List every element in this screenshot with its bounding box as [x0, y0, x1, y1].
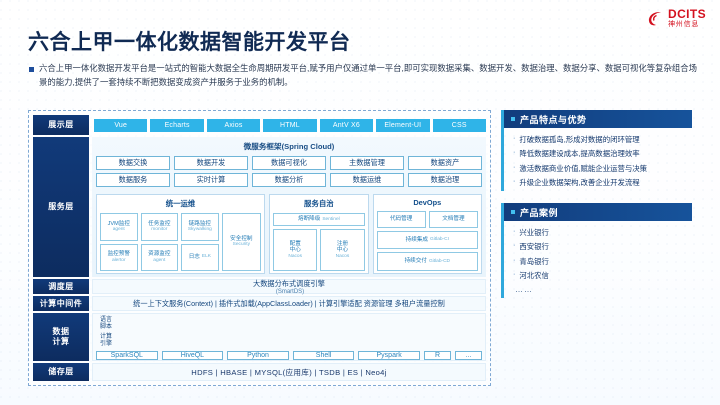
service-module[interactable]: 数据资产: [408, 156, 482, 170]
cd-cell-cn: 持续交付: [405, 258, 427, 264]
advantage-text: 打破数据孤岛,形成对数据的闭环管理: [519, 135, 639, 144]
ops-cell-en: agent: [153, 258, 165, 264]
security-control-cell[interactable]: 安全控制 Security: [222, 213, 262, 271]
devops-cells: 代码管理 文档管理 持续集成 Gitlab-CI: [377, 211, 478, 271]
case-item: · 西安银行: [513, 242, 688, 251]
side-column: 产品特点与优势 · 打破数据孤岛,形成对数据的闭环管理 · 降低数据建设成本,提…: [501, 110, 692, 386]
ci-cell-en: Gitlab-CI: [430, 237, 449, 243]
unified-ops-panel: 统一运维 JVM监控 agent 任务监: [96, 194, 265, 274]
bullet-dot-icon: ·: [513, 178, 515, 186]
advantage-text: 激活数据商业价值,赋能企业运营与决策: [519, 164, 647, 173]
ops-cell-en: monitor: [151, 227, 167, 233]
ops-cell-en: ELK: [202, 254, 211, 260]
schedule-engine-en: (SmartDS): [276, 289, 304, 295]
service-autonomy-cells: 熔断降级 Sentinel 配置 中心 Nacos: [273, 213, 364, 271]
service-autonomy-title: 服务自治: [273, 197, 364, 211]
advantage-text: 升级企业数据架构,改善企业开发流程: [519, 178, 639, 187]
layer-label-middleware: 计算中间件: [33, 296, 89, 311]
page-title: 六合上甲一体化数据智能开发平台: [28, 26, 351, 56]
ops-cell[interactable]: 监控预警 alertor: [100, 244, 138, 272]
ops-cell-cn: 日志: [189, 254, 200, 260]
service-module-row: 数据交换 数据开发 数据可视化 主数据管理 数据资产: [96, 156, 482, 170]
tech-tag[interactable]: AntV X6: [320, 119, 373, 132]
bullet-square-icon: [29, 67, 34, 72]
content-area: 展示层 Vue Echarts Axios HTML AntV X6 Eleme…: [28, 110, 692, 386]
service-module[interactable]: 实时计算: [174, 173, 248, 187]
case-item: · 河北农信: [513, 271, 688, 280]
bullet-dot-icon: ·: [513, 164, 515, 172]
service-module[interactable]: 数据可视化: [252, 156, 326, 170]
schedule-engine-bar: 大数据分布式调度引擎 (SmartDS): [92, 279, 486, 294]
autonomy-center-row: 配置 中心 Nacos 注册 中心 Nacos: [273, 229, 364, 271]
bullet-dot-icon: ·: [513, 242, 515, 250]
ops-cell[interactable]: JVM监控 agent: [100, 213, 138, 241]
bullet-dot-icon: ·: [513, 149, 515, 157]
code-manage-cell[interactable]: 代码管理: [377, 211, 426, 228]
service-layer-row: 服务层 微服务框架(Spring Cloud) 数据交换 数据开发 数据可视化 …: [33, 137, 486, 277]
security-cell-en: Security: [233, 242, 250, 248]
cases-title: 产品案例: [520, 206, 558, 219]
advantage-item: · 升级企业数据架构,改善企业开发流程: [513, 178, 688, 187]
storage-tech-list: HDFS | HBASE | MYSQL(应用库) | TSDB | ES | …: [92, 363, 486, 381]
language-chip[interactable]: Pyspark: [358, 351, 420, 360]
presentation-tag-list: Vue Echarts Axios HTML AntV X6 Element-U…: [92, 115, 486, 135]
ops-monitor-row: JVM监控 agent 任务监控 monitor 链路监: [100, 213, 219, 241]
doc-manage-label: 文档管理: [442, 216, 464, 222]
header-square-icon: [511, 117, 515, 121]
language-chip[interactable]: SparkSQL: [96, 351, 158, 360]
logo-brand-cn-text: 神州信息: [668, 21, 706, 28]
data-compute-layer-row: 数据 计算 语言 脚本 计算 引擎: [33, 313, 486, 361]
service-module[interactable]: 数据开发: [174, 156, 248, 170]
service-module[interactable]: 数据运维: [330, 173, 404, 187]
storage-layer-row: 储存层 HDFS | HBASE | MYSQL(应用库) | TSDB | E…: [33, 363, 486, 381]
unified-ops-cells: JVM监控 agent 任务监控 monitor 链路监: [100, 213, 261, 271]
data-compute-label-l2: 计算: [53, 337, 70, 346]
case-item: · 青岛银行: [513, 257, 688, 266]
lang-label-l1: 语言: [100, 317, 112, 324]
ops-panels-area: 统一运维 JVM监控 agent 任务监: [96, 194, 482, 274]
page-subtitle: 六合上甲一体化数据开发平台是一站式的智能大数据全生命周期研发平台,赋予用户仅通过…: [39, 62, 697, 90]
registry-cell-en: Nacos: [336, 254, 350, 260]
bullet-dot-icon: ·: [513, 228, 515, 236]
page-subtitle-block: 六合上甲一体化数据开发平台是一站式的智能大数据全生命周期研发平台,赋予用户仅通过…: [29, 62, 697, 90]
fuse-degrade-cell[interactable]: 熔断降级 Sentinel: [273, 213, 364, 226]
cases-card: 产品案例 · 兴业银行 · 西安银行 · 青岛银行: [501, 203, 692, 298]
tech-tag[interactable]: CSS: [433, 119, 486, 132]
engine-label-l2: 引擎: [100, 341, 112, 348]
unified-ops-title: 统一运维: [100, 197, 261, 211]
tech-tag[interactable]: Element-UI: [376, 119, 429, 132]
lang-label-l2: 脚本: [100, 324, 112, 331]
case-text: 兴业银行: [519, 228, 549, 237]
case-text: 青岛银行: [519, 257, 549, 266]
schedule-engine-cn: 大数据分布式调度引擎: [253, 279, 325, 289]
data-compute-content: 语言 脚本 计算 引擎 SparkSQL HiveQL Python: [92, 313, 486, 361]
cases-ellipsis: ……: [513, 285, 688, 294]
language-chip-more[interactable]: ...: [455, 351, 482, 360]
advantage-item: · 降低数据建设成本,提高数据治理效率: [513, 149, 688, 158]
bullet-dot-icon: ·: [513, 135, 515, 143]
devops-title: DevOps: [377, 197, 478, 209]
layer-label-storage: 储存层: [33, 363, 89, 381]
ci-cell-cn: 持续集成: [406, 237, 428, 243]
engine-label-l1: 计算: [100, 334, 112, 341]
advantage-text: 降低数据建设成本,提高数据治理效率: [519, 149, 639, 158]
config-center-cell[interactable]: 配置 中心 Nacos: [273, 229, 317, 271]
architecture-diagram: 展示层 Vue Echarts Axios HTML AntV X6 Eleme…: [28, 110, 491, 386]
case-text: 河北农信: [519, 271, 549, 280]
ops-cell[interactable]: 任务监控 monitor: [141, 213, 179, 241]
ops-cell[interactable]: 资源监控 agent: [141, 244, 179, 272]
language-chip-row: SparkSQL HiveQL Python Shell Pyspark R .…: [96, 351, 482, 360]
advantage-item: · 打破数据孤岛,形成对数据的闭环管理: [513, 135, 688, 144]
ops-cell[interactable]: 链路监控 Skywalking: [181, 213, 219, 241]
cd-cell[interactable]: 持续交付 Gitlab-CD: [377, 252, 478, 271]
compute-engine-label: 计算 引擎: [96, 334, 116, 348]
service-layer-content: 微服务框架(Spring Cloud) 数据交换 数据开发 数据可视化 主数据管…: [92, 137, 486, 277]
layer-label-data-compute: 数据 计算: [33, 313, 89, 361]
fuse-cell-cn: 熔断降级: [298, 216, 320, 222]
ops-monitor-row: 监控预警 alertor 资源监控 agent 日志: [100, 244, 219, 272]
service-module[interactable]: 数据交换: [96, 156, 170, 170]
ops-cell[interactable]: 日志 ELK: [181, 244, 219, 272]
service-autonomy-panel: 服务自治 熔断降级 Sentinel 配置 中心: [269, 194, 368, 274]
service-module[interactable]: 主数据管理: [330, 156, 404, 170]
language-chip[interactable]: HiveQL: [162, 351, 224, 360]
presentation-layer-row: 展示层 Vue Echarts Axios HTML AntV X6 Eleme…: [33, 115, 486, 135]
doc-manage-cell[interactable]: 文档管理: [429, 211, 478, 228]
logo-brand-text: DCITS: [668, 8, 706, 20]
ops-monitor-grid: JVM监控 agent 任务监控 monitor 链路监: [100, 213, 219, 271]
advantage-item: · 激活数据商业价值,赋能企业运营与决策: [513, 164, 688, 173]
advantages-card: 产品特点与优势 · 打破数据孤岛,形成对数据的闭环管理 · 降低数据建设成本,提…: [501, 110, 692, 191]
schedule-layer-row: 调度层 大数据分布式调度引擎 (SmartDS): [33, 279, 486, 294]
service-module-row: 数据服务 实时计算 数据分析 数据运维 数据治理: [96, 173, 482, 187]
ops-cell-en: agent: [113, 227, 125, 233]
service-module[interactable]: 数据分析: [252, 173, 326, 187]
ci-cell[interactable]: 持续集成 Gitlab-CI: [377, 231, 478, 250]
fuse-cell-en: Sentinel: [322, 217, 339, 223]
middleware-bar: 统一上下文服务(Context) | 插件式加载(AppClassLoader)…: [92, 296, 486, 311]
advantages-title: 产品特点与优势: [520, 113, 587, 126]
header-square-icon: [511, 210, 515, 214]
service-module[interactable]: 数据服务: [96, 173, 170, 187]
registry-center-cell[interactable]: 注册 中心 Nacos: [320, 229, 364, 271]
middleware-layer-row: 计算中间件 统一上下文服务(Context) | 插件式加载(AppClassL…: [33, 296, 486, 311]
code-manage-label: 代码管理: [390, 216, 412, 222]
language-chip[interactable]: R: [424, 351, 451, 360]
case-text: 西安银行: [519, 242, 549, 251]
tech-tag[interactable]: Echarts: [150, 119, 203, 132]
language-chip[interactable]: Shell: [293, 351, 355, 360]
advantages-header: 产品特点与优势: [504, 110, 692, 128]
layer-label-service: 服务层: [33, 137, 89, 277]
data-compute-label-l1: 数据: [53, 327, 70, 336]
config-cell-en: Nacos: [288, 254, 302, 260]
framework-bar-label: 微服务框架(Spring Cloud): [96, 140, 482, 153]
ops-cell-en: Skywalking: [188, 227, 212, 233]
advantages-list: · 打破数据孤岛,形成对数据的闭环管理 · 降低数据建设成本,提高数据治理效率 …: [504, 128, 692, 191]
cd-cell-en: Gitlab-CD: [429, 259, 450, 265]
case-item: · 兴业银行: [513, 228, 688, 237]
language-script-label: 语言 脚本: [96, 317, 116, 331]
tech-tag[interactable]: HTML: [263, 119, 316, 132]
company-logo: DCITS 神州信息: [647, 8, 706, 28]
ops-cell-en: alertor: [112, 258, 126, 264]
cases-header: 产品案例: [504, 203, 692, 221]
devops-panel: DevOps 代码管理 文档管理: [373, 194, 482, 274]
devops-manage-row: 代码管理 文档管理: [377, 211, 478, 228]
dcits-swoosh-icon: [647, 10, 664, 27]
tech-tag[interactable]: Vue: [94, 119, 147, 132]
layer-label-presentation: 展示层: [33, 115, 89, 135]
security-control-wrap: 安全控制 Security: [222, 213, 262, 271]
bullet-dot-icon: ·: [513, 257, 515, 265]
slide-canvas: DCITS 神州信息 六合上甲一体化数据智能开发平台 六合上甲一体化数据开发平台…: [0, 0, 720, 405]
layer-label-schedule: 调度层: [33, 279, 89, 294]
cases-list: · 兴业银行 · 西安银行 · 青岛银行 · 河: [504, 221, 692, 298]
service-module-grid: 数据交换 数据开发 数据可视化 主数据管理 数据资产 数据服务 实时计算 数据分…: [96, 156, 482, 187]
data-compute-sublabels: 语言 脚本 计算 引擎: [96, 317, 116, 348]
language-chip[interactable]: Python: [227, 351, 289, 360]
bullet-dot-icon: ·: [513, 271, 515, 279]
service-module[interactable]: 数据治理: [408, 173, 482, 187]
tech-tag[interactable]: Axios: [207, 119, 260, 132]
